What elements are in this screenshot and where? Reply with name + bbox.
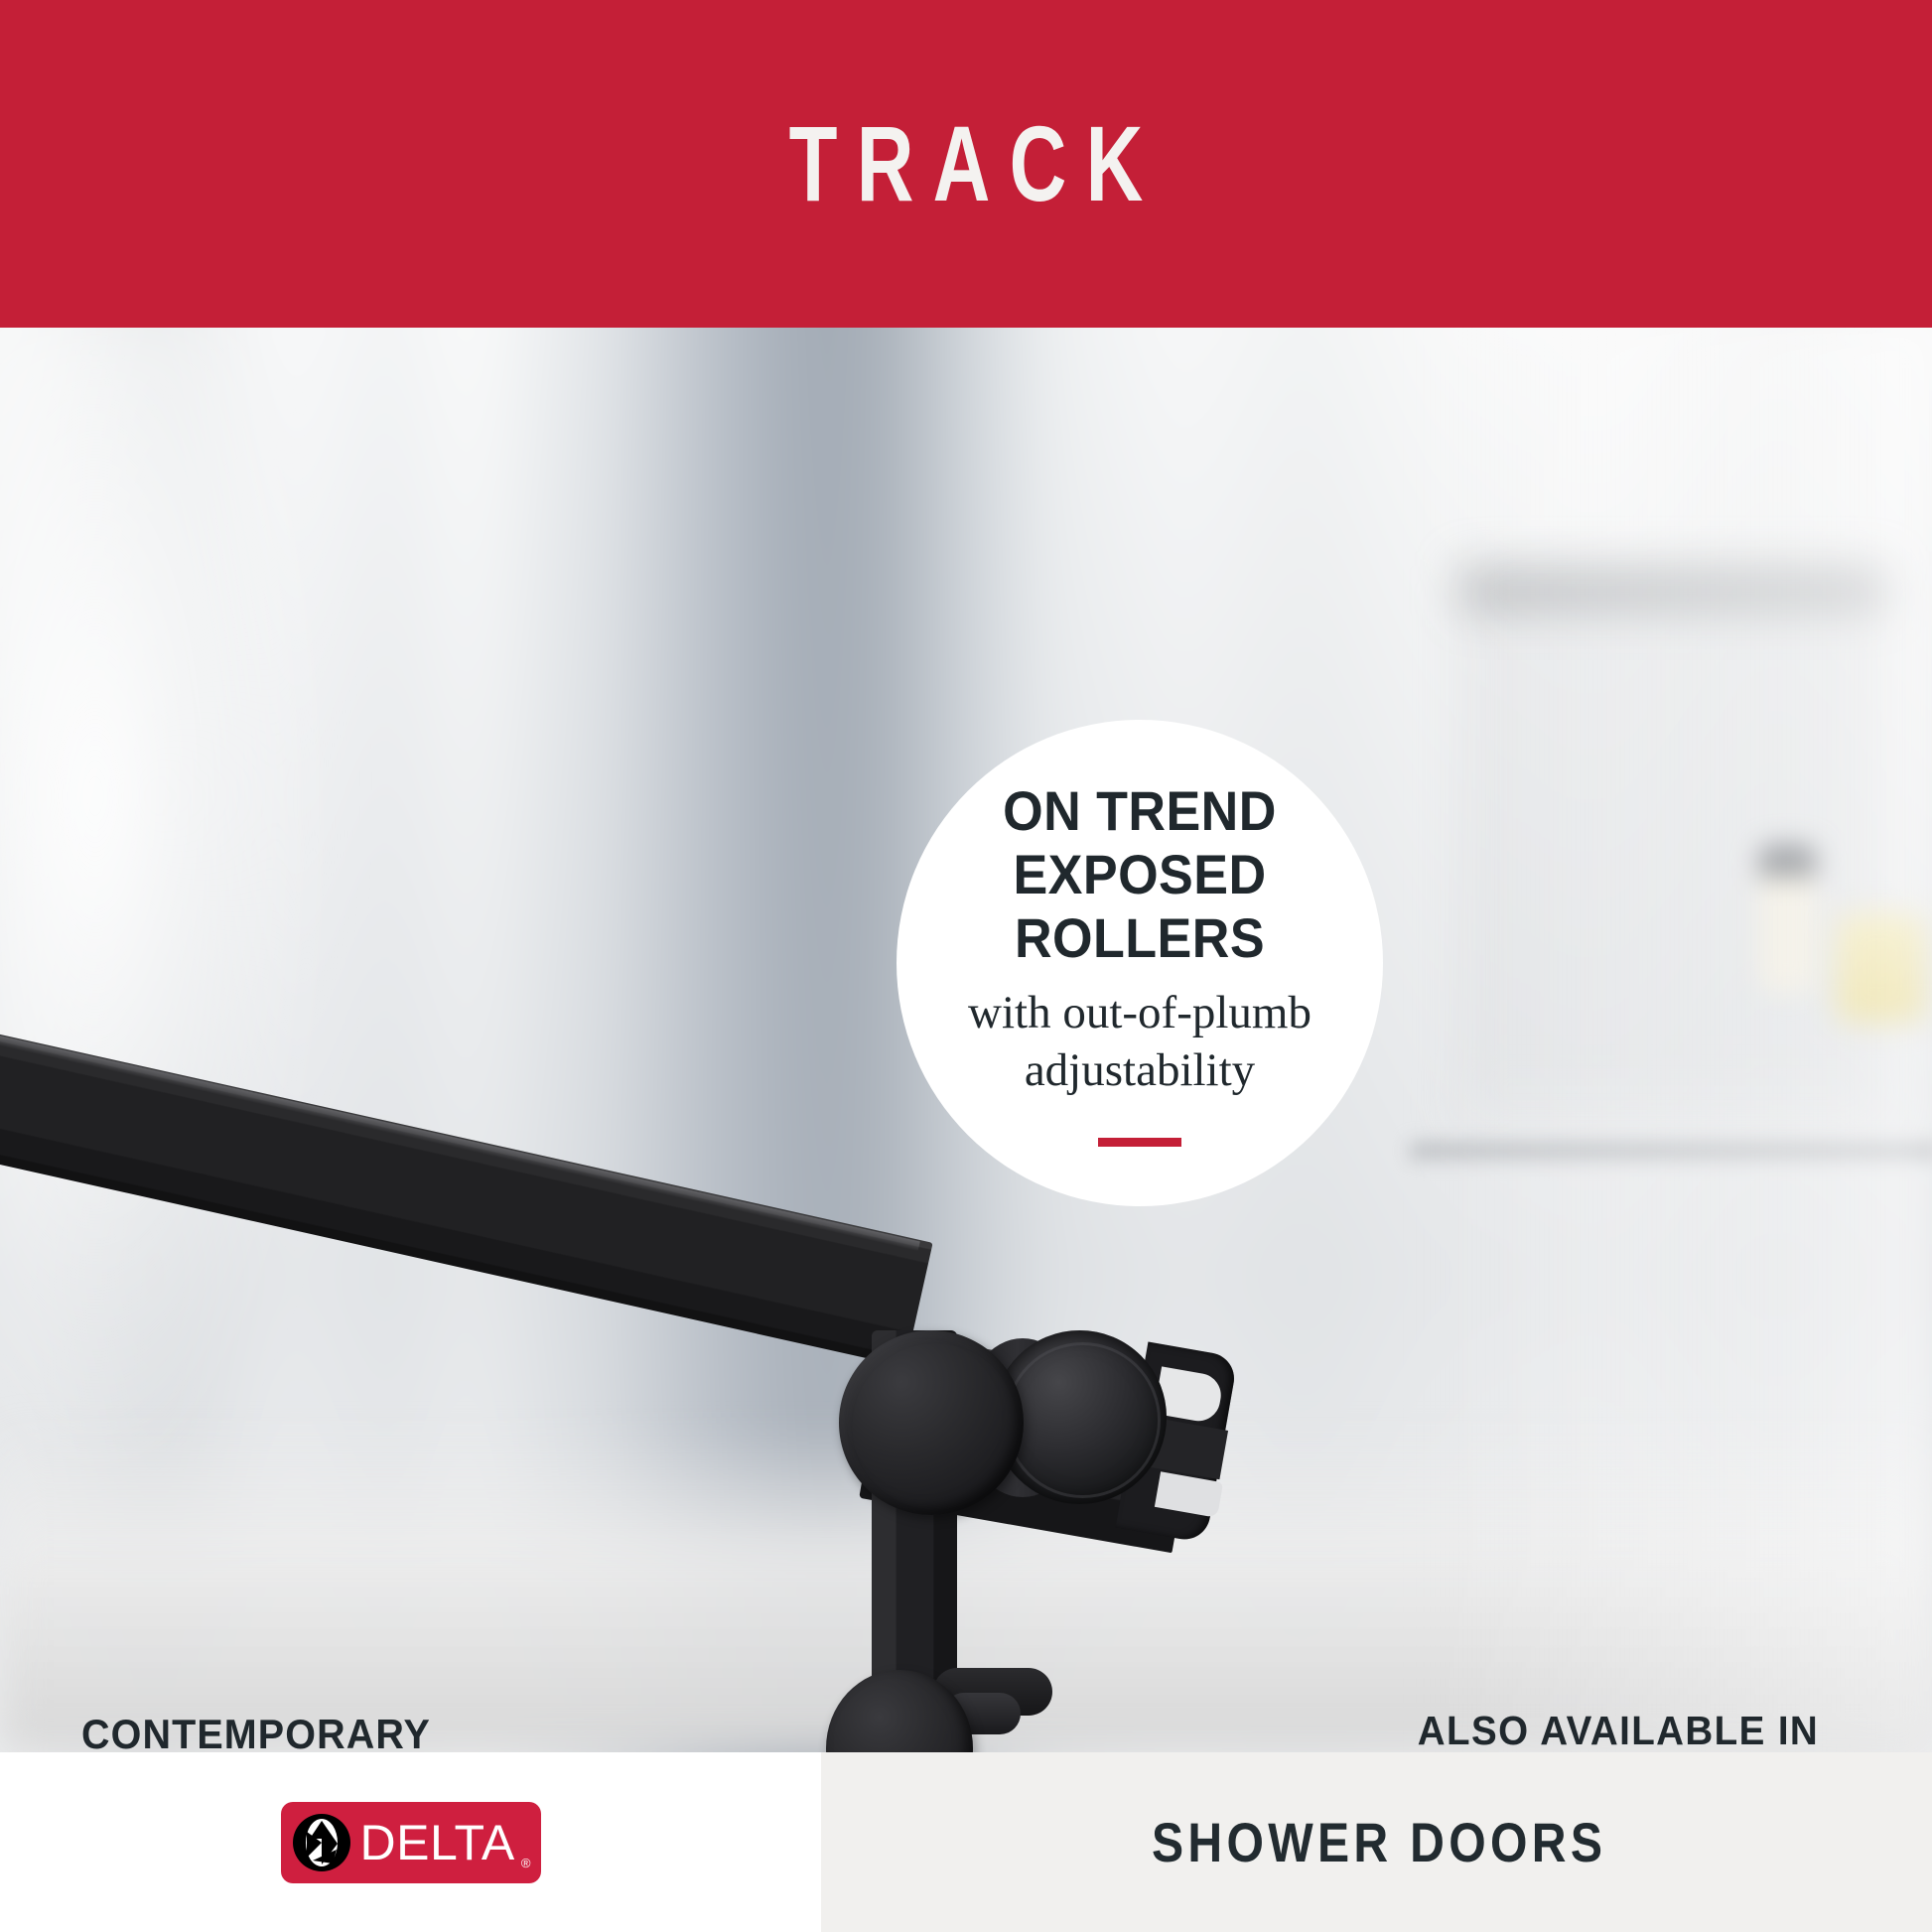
exposed-roller-disc-shading [839,1330,1024,1515]
product-marketing-card: TRACK ON TREND EXPOSED ROL [0,0,1932,1932]
callout-headline-line-2: EXPOSED ROLLERS [945,843,1334,970]
finish-options: ALSO AVAILABLE IN CHROME BRUSHED NICKEL [1370,1708,1866,1752]
roller-wheel-rim [1005,1342,1161,1498]
callout-subtext-line-1: with out-of-plumb [968,984,1311,1041]
wall-highlight [1416,328,1932,1752]
callout-subtext-line-2: adjustability [968,1041,1311,1099]
delta-wordmark: DELTA [360,1818,515,1867]
feature-callout-badge: ON TREND EXPOSED ROLLERS with out-of-plu… [897,720,1383,1206]
footer-category-label: SHOWER DOORS [1147,1810,1606,1874]
callout-headline: ON TREND EXPOSED ROLLERS [945,779,1334,969]
callout-headline-line-1: ON TREND [945,779,1334,843]
delta-logo[interactable]: DELTA ® [281,1802,541,1883]
footer-brand-panel: DELTA ® [0,1752,821,1932]
callout-accent-rule [1098,1138,1181,1147]
product-caption-line-1: CONTEMPORARY [69,1708,443,1752]
page-title: TRACK [251,0,1681,328]
finish-options-title: ALSO AVAILABLE IN [1385,1708,1852,1752]
delta-triangle-icon [293,1814,350,1871]
header-banner: TRACK [0,0,1932,328]
registered-mark: ® [521,1856,531,1870]
footer-category-panel: SHOWER DOORS [821,1752,1932,1932]
product-photo: ON TREND EXPOSED ROLLERS with out-of-plu… [0,328,1932,1752]
window-glow [0,328,328,1499]
callout-subtext: with out-of-plumb adjustability [968,984,1311,1100]
footer: DELTA ® SHOWER DOORS [0,1752,1932,1932]
product-caption: CONTEMPORARY TRACK IN MATTE BLACK [69,1708,443,1752]
